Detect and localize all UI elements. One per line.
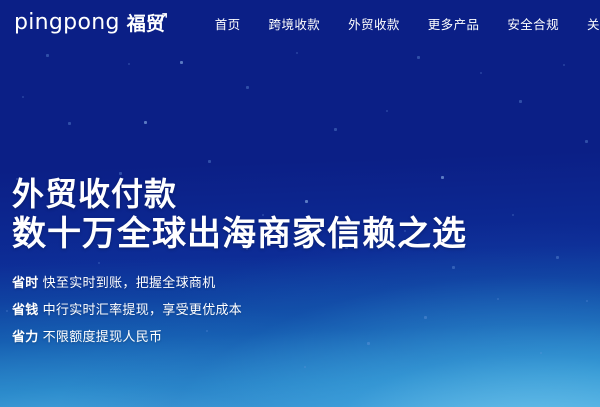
- hero-benefit-item: 省钱中行实时汇率提现，享受更优成本: [12, 303, 467, 316]
- benefit-tag: 省时: [12, 275, 39, 290]
- hero-benefit-item: 省时快至实时到账，把握全球商机: [12, 276, 467, 289]
- benefit-tag: 省钱: [12, 302, 39, 317]
- hero-headline-line1: 外贸收付款: [12, 176, 467, 212]
- benefit-text: 中行实时汇率提现，享受更优成本: [43, 302, 243, 317]
- nav-item-security-compliance[interactable]: 安全合规: [493, 8, 573, 39]
- benefit-tag: 省力: [12, 329, 39, 344]
- hero-section: 外贸收付款 数十万全球出海商家信赖之选 省时快至实时到账，把握全球商机 省钱中行…: [12, 176, 467, 357]
- hero-benefit-item: 省力不限额度提现人民币: [12, 330, 467, 343]
- benefit-text: 不限额度提现人民币: [43, 329, 163, 344]
- brand-logo[interactable]: pingpong 福贸: [14, 12, 167, 34]
- nav-item-cross-border-collection[interactable]: 跨境收款: [255, 8, 335, 39]
- site-header: pingpong 福贸 首页 跨境收款 外贸收款 更多产品 安全合规 关于: [0, 0, 600, 46]
- brand-wordmark: pingpong: [14, 12, 120, 34]
- hero-page: pingpong 福贸 首页 跨境收款 外贸收款 更多产品 安全合规 关于 外贸…: [0, 0, 600, 407]
- main-navigation: 首页 跨境收款 外贸收款 更多产品 安全合规 关于: [201, 8, 600, 39]
- hero-headline-line2: 数十万全球出海商家信赖之选: [12, 215, 467, 254]
- hero-benefit-list: 省时快至实时到账，把握全球商机 省钱中行实时汇率提现，享受更优成本 省力不限额度…: [12, 276, 467, 343]
- nav-item-foreign-trade-collection[interactable]: 外贸收款: [334, 8, 414, 39]
- nav-item-home[interactable]: 首页: [201, 8, 255, 39]
- brand-cn-mark: 福贸: [127, 15, 167, 34]
- nav-item-more-products[interactable]: 更多产品: [414, 8, 494, 39]
- hero-headline: 外贸收付款 数十万全球出海商家信赖之选: [12, 176, 467, 254]
- arrow-up-right-icon: [159, 12, 168, 21]
- nav-item-about[interactable]: 关于: [573, 8, 600, 39]
- benefit-text: 快至实时到账，把握全球商机: [43, 275, 216, 290]
